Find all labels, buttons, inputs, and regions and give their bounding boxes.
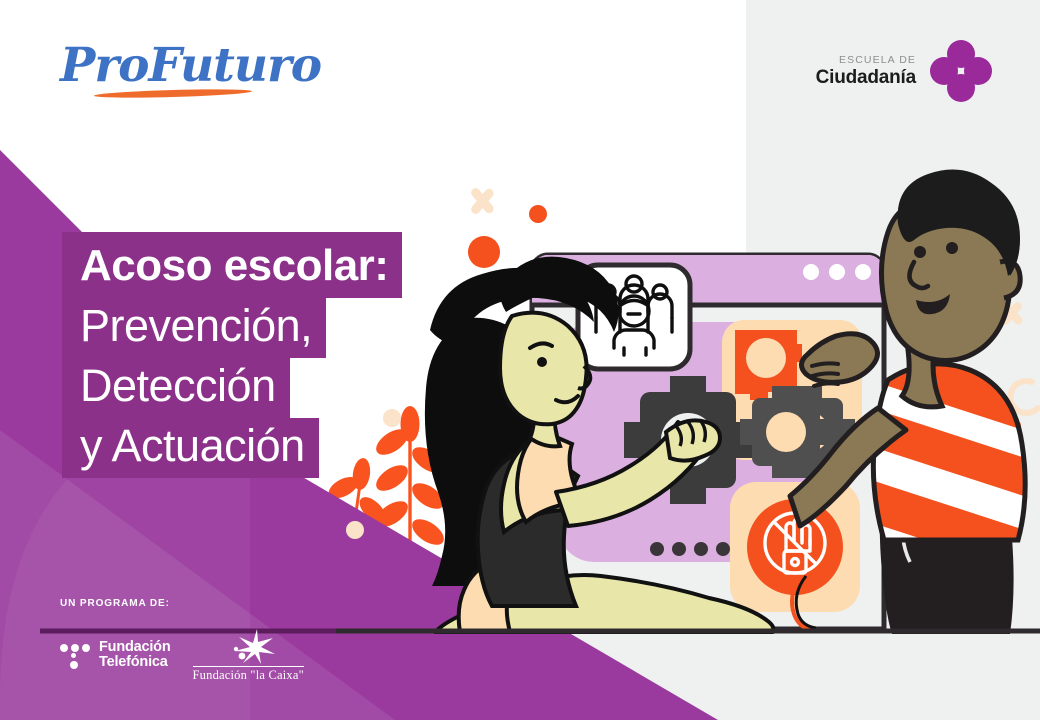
- telefonica-name-line1: Fundación: [99, 640, 171, 655]
- title-line-1: Acoso escolar:: [62, 232, 402, 298]
- floor-grey: [718, 633, 1040, 720]
- sponsors-footer: UN PROGRAMA DE: Fundación Telefónica Fun…: [60, 598, 304, 683]
- telefonica-dots-icon: [60, 641, 90, 669]
- caixa-star-icon: [217, 627, 279, 665]
- slide-canvas: ProFuturo ESCUELA DE Ciudadanía Acoso es…: [0, 0, 1040, 720]
- four-circle-flower-icon: [930, 40, 992, 102]
- fundacion-la-caixa-logo[interactable]: Fundación "la Caixa": [193, 627, 304, 683]
- title-line-3: Detección: [62, 358, 290, 418]
- sponsors-label: UN PROGRAMA DE:: [60, 598, 304, 609]
- profuturo-logo-text: ProFuturo: [60, 40, 290, 92]
- page-title: Acoso escolar: Prevención, Detección y A…: [62, 232, 402, 478]
- telefonica-name: Fundación Telefónica: [99, 640, 171, 670]
- sponsors-row: Fundación Telefónica Fundación "la Caixa…: [60, 627, 304, 683]
- profuturo-logo[interactable]: ProFuturo: [60, 40, 290, 102]
- title-line-4: y Actuación: [62, 418, 319, 478]
- escuela-line1: ESCUELA DE: [816, 54, 916, 67]
- fundacion-telefonica-logo[interactable]: Fundación Telefónica: [60, 640, 171, 670]
- telefonica-name-line2: Telefónica: [99, 655, 171, 670]
- escuela-ciudadania-logo[interactable]: ESCUELA DE Ciudadanía: [816, 40, 992, 102]
- escuela-ciudadania-text: ESCUELA DE Ciudadanía: [816, 54, 916, 88]
- title-line-2: Prevención,: [62, 298, 326, 358]
- escuela-line2: Ciudadanía: [816, 67, 916, 88]
- window-dots: [803, 264, 871, 280]
- caixa-name: Fundación "la Caixa": [193, 666, 304, 683]
